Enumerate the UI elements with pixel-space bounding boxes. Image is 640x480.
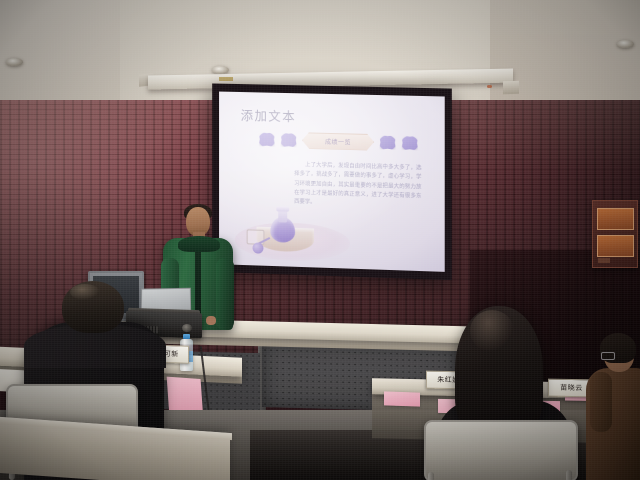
- ceiling-flat-left: [0, 0, 120, 110]
- slide-banner: 成绩一览: [302, 132, 374, 151]
- slide-surface: 添加文本 成绩一览 上了大学后，发现自由时间比高中多大多了，选择多了，挑战多了，…: [219, 92, 445, 272]
- wall-poster: [592, 200, 638, 268]
- photo-scene: 添加文本 成绩一览 上了大学后，发现自由时间比高中多大多了，选择多了，挑战多了，…: [0, 0, 640, 480]
- perfume-flask-illustration: [235, 183, 350, 262]
- presenter-hood: [178, 236, 220, 252]
- flask-cap-shape: [276, 206, 289, 211]
- pink-paper: [384, 391, 420, 406]
- downlight-icon: [212, 66, 229, 74]
- decor-square-icon: [401, 135, 418, 151]
- attendee-far-right-arm: [590, 372, 612, 432]
- decor-square-icon: [258, 132, 275, 147]
- attendee-left-hair-highlight: [70, 284, 100, 300]
- glasses-icon: [601, 352, 615, 360]
- housing-label: [219, 77, 233, 81]
- screen-housing-bracket-right: [503, 81, 519, 95]
- downlight-icon: [6, 58, 23, 66]
- bottle-cap: [183, 334, 190, 339]
- slide-title: 添加文本: [241, 105, 296, 125]
- slide-banner-label: 成绩一览: [325, 136, 351, 146]
- poster-panel: [597, 235, 634, 257]
- projector-lens-icon: [182, 324, 192, 332]
- presenter-hand-right: [206, 316, 216, 325]
- decor-square-icon: [280, 132, 297, 147]
- housing-indicator-icon: [487, 85, 492, 88]
- chair-right: [424, 420, 578, 480]
- decor-square-icon: [379, 135, 396, 150]
- projection-screen: 添加文本 成绩一览 上了大学后，发现自由时间比高中多大多了，选择多了，挑战多了，…: [212, 83, 452, 280]
- slide-decoration-row: 成绩一览: [258, 130, 418, 152]
- poster-panel: [597, 208, 634, 230]
- nameplate-text: 苗晓云: [560, 383, 583, 393]
- chair-leg: [566, 470, 572, 480]
- bulb-shape: [253, 242, 264, 253]
- downlight-icon: [617, 40, 634, 48]
- attendee-right-hair-highlight: [470, 310, 514, 352]
- poster-footer: [598, 258, 610, 263]
- presenter-arm-right: [216, 258, 234, 330]
- chair-leg: [428, 472, 434, 480]
